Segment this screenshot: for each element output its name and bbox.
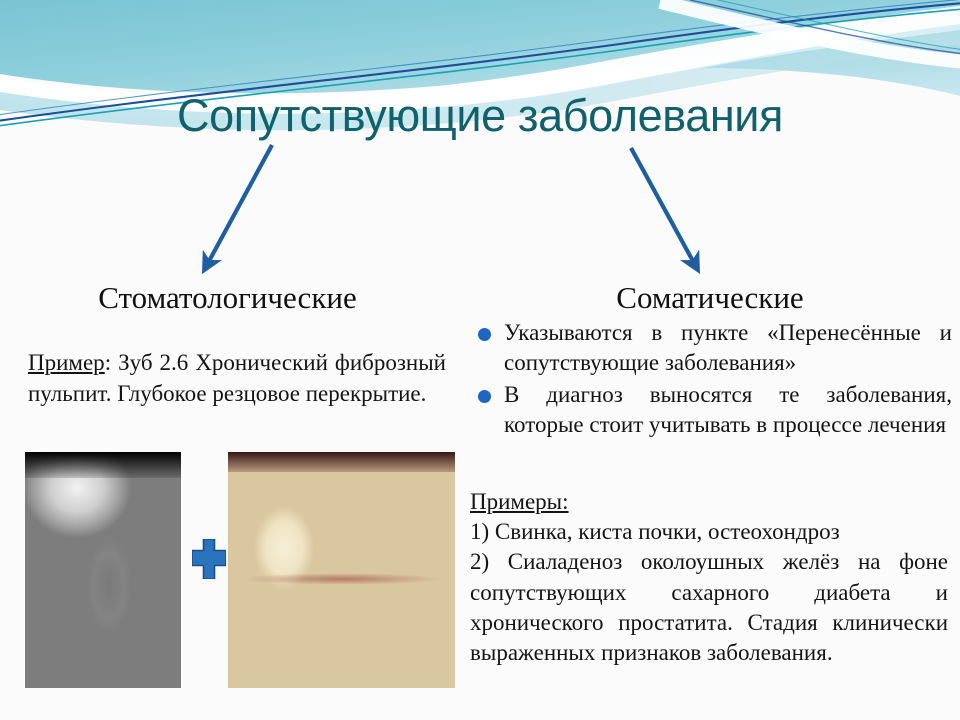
photo-gum-line: [244, 574, 440, 584]
bullet-dot-icon: [478, 390, 491, 403]
plus-cross-icon: [192, 539, 226, 579]
xray-dark-region: [25, 452, 181, 478]
example-item-2: 2) Сиаладеноз околоушных желёз на фоне с…: [470, 547, 948, 668]
somatic-examples-block: Примеры: 1) Свинка, киста почки, остеохо…: [470, 487, 948, 668]
column-heading-somatic: Соматические: [470, 281, 950, 315]
intraoral-teeth-photo: [228, 452, 455, 688]
somatic-bullet-list: Указываются в пункте «Перенесённые и соп…: [470, 318, 952, 442]
example-item-1: 1) Свинка, киста почки, остеохондроз: [470, 517, 948, 547]
arrow-right-somatic: [631, 148, 694, 263]
list-item: В диагноз выносятся те заболевания, кото…: [470, 380, 952, 440]
dental-xray-image: [25, 452, 181, 688]
bullet-dot-icon: [478, 328, 491, 341]
bullet-text: Указываются в пункте «Перенесённые и соп…: [504, 320, 952, 375]
arrow-left-dental: [208, 145, 272, 263]
column-heading-dental: Стоматологические: [0, 281, 455, 315]
bullet-text: В диагноз выносятся те заболевания, кото…: [504, 382, 952, 437]
xray-root-canal-region: [87, 538, 131, 634]
examples-title: Примеры:: [470, 487, 948, 517]
examples-title-text: Примеры:: [470, 489, 569, 514]
slide-canvas: Сопутствующие заболевания Стоматологичес…: [0, 0, 960, 720]
example-label: Пример: [28, 350, 105, 375]
list-item: Указываются в пункте «Перенесённые и соп…: [470, 318, 952, 378]
photo-upper-lip-shadow: [228, 452, 455, 472]
dental-example-paragraph: Пример: Зуб 2.6 Хронический фиброзный пу…: [28, 348, 446, 409]
slide-title: Сопутствующие заболевания: [0, 92, 960, 139]
